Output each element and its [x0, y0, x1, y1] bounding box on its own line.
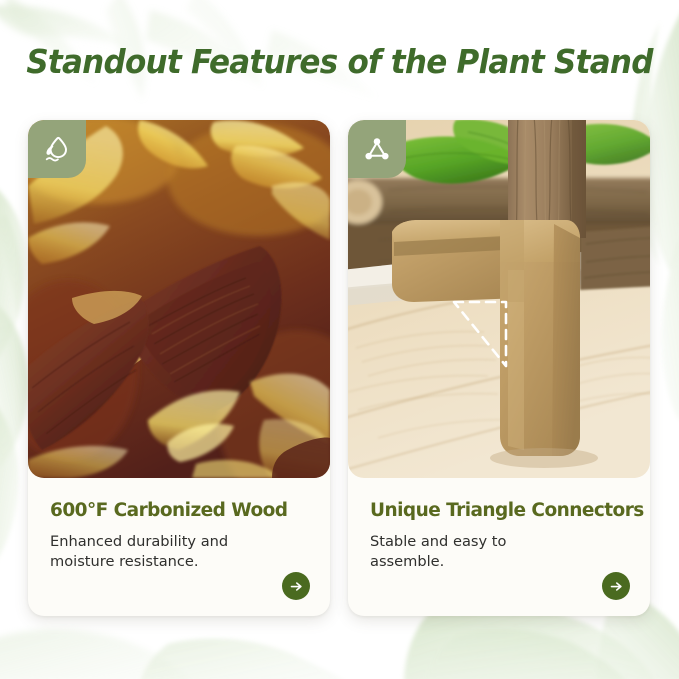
card-body-carbonized-wood: 600°F Carbonized Wood Enhanced durabilit…	[28, 478, 330, 616]
arrow-right-icon	[609, 579, 624, 594]
feature-card-triangle-connectors[interactable]: Unique Triangle Connectors Stable and ea…	[348, 120, 650, 616]
card-description: Stable and easy to assemble.	[370, 532, 570, 571]
triangle-connector-photo	[348, 120, 650, 478]
badge-water-drop	[28, 120, 86, 178]
card-heading: Unique Triangle Connectors	[370, 500, 630, 521]
feature-highlight-page: Standout Features of the Plant Stand	[0, 0, 679, 679]
water-drop-icon	[42, 134, 72, 164]
badge-triangle-connector	[348, 120, 406, 178]
learn-more-arrow-button[interactable]	[282, 572, 310, 600]
triangle-connector-icon	[362, 134, 392, 164]
card-description: Enhanced durability and moisture resista…	[50, 532, 250, 571]
card-heading: 600°F Carbonized Wood	[50, 500, 310, 521]
feature-card-carbonized-wood[interactable]: 600°F Carbonized Wood Enhanced durabilit…	[28, 120, 330, 616]
page-title: Standout Features of the Plant Stand	[20, 42, 658, 81]
burning-logs-photo	[28, 120, 330, 478]
arrow-right-icon	[289, 579, 304, 594]
page-title-container: Standout Features of the Plant Stand	[0, 42, 679, 81]
feature-cards-row: 600°F Carbonized Wood Enhanced durabilit…	[28, 120, 651, 616]
card-body-triangle-connectors: Unique Triangle Connectors Stable and ea…	[348, 478, 650, 616]
learn-more-arrow-button[interactable]	[602, 572, 630, 600]
